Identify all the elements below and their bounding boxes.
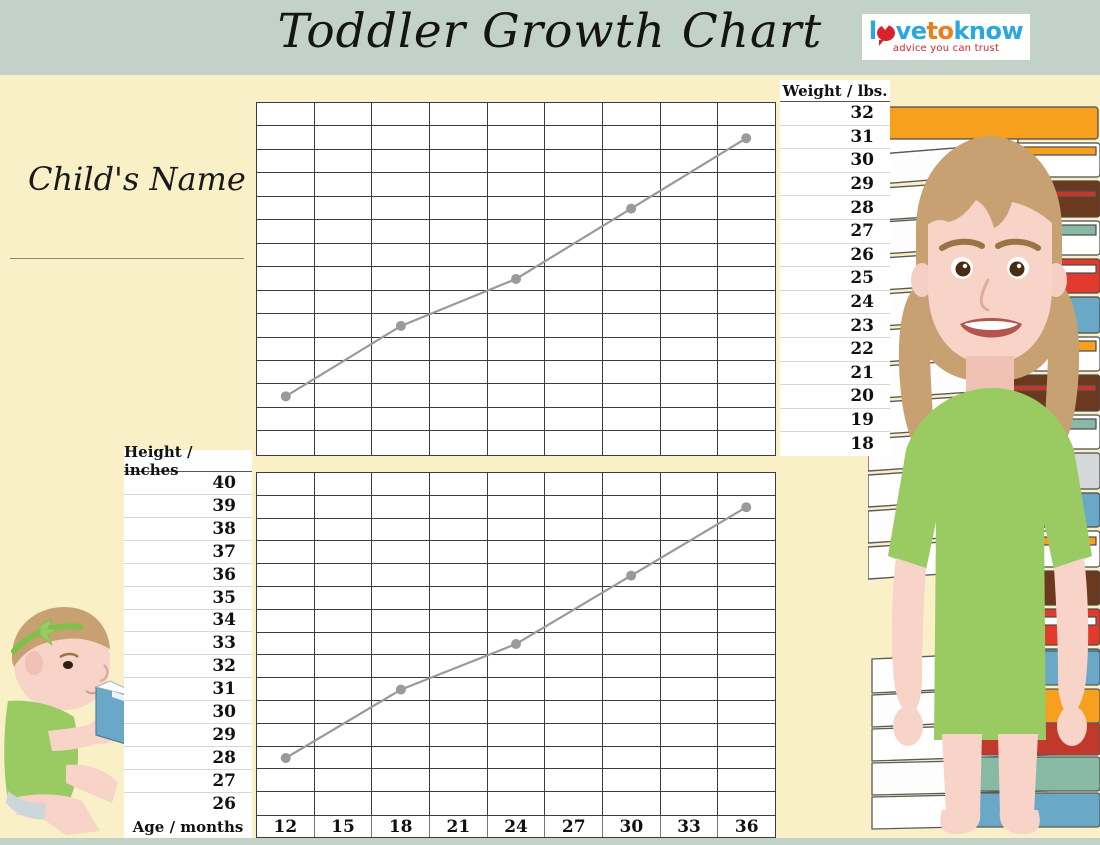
grid-cell[interactable] [545, 747, 603, 769]
grid-cell[interactable] [545, 655, 603, 677]
grid-cell[interactable] [257, 220, 315, 242]
child-name-label: Child's Name [28, 160, 246, 198]
grid-cell[interactable] [372, 220, 430, 242]
baby-reading-illustration [0, 605, 140, 838]
grid-cell[interactable] [603, 361, 661, 383]
grid-cell[interactable] [372, 678, 430, 700]
grid-cell[interactable] [488, 314, 546, 336]
grid-cell[interactable] [372, 792, 430, 815]
grid-cell[interactable] [718, 338, 775, 360]
grid-cell[interactable] [718, 724, 775, 746]
grid-cell[interactable] [603, 220, 661, 242]
grid-cell[interactable] [315, 267, 373, 289]
grid-cell[interactable] [718, 408, 775, 430]
grid-cell[interactable] [372, 150, 430, 172]
grid-cell[interactable] [488, 519, 546, 541]
grid-cell[interactable] [718, 564, 775, 586]
grid-cell[interactable] [372, 291, 430, 313]
grid-cell[interactable] [488, 678, 546, 700]
grid-cell[interactable] [257, 103, 315, 125]
grid-cell[interactable] [257, 587, 315, 609]
grid-cell[interactable] [718, 610, 775, 632]
grid-cell[interactable] [315, 496, 373, 518]
grid-cell[interactable] [430, 769, 488, 791]
grid-cell[interactable] [430, 431, 488, 454]
grid-cell[interactable] [488, 431, 546, 454]
grid-cell[interactable] [488, 338, 546, 360]
grid-cell[interactable] [603, 384, 661, 406]
height-tick-38: 38 [124, 518, 252, 541]
grid-cell[interactable] [430, 338, 488, 360]
grid-cell[interactable] [257, 724, 315, 746]
grid-row [257, 197, 775, 220]
grid-cell[interactable] [315, 361, 373, 383]
grid-cell[interactable] [718, 126, 775, 148]
child-name-write-line[interactable] [10, 258, 244, 259]
grid-cell[interactable] [718, 314, 775, 336]
grid-cell[interactable] [430, 678, 488, 700]
grid-cell[interactable] [545, 431, 603, 454]
grid-cell[interactable] [661, 655, 719, 677]
grid-cell[interactable] [718, 633, 775, 655]
grid-cell[interactable] [718, 747, 775, 769]
grid-cell[interactable] [488, 291, 546, 313]
grid-cell[interactable] [257, 792, 315, 815]
grid-cell[interactable] [661, 587, 719, 609]
age-tick-27: 27 [545, 816, 603, 837]
grid-cell[interactable] [545, 701, 603, 723]
grid-cell[interactable] [430, 724, 488, 746]
grid-cell[interactable] [372, 564, 430, 586]
grid-cell[interactable] [661, 150, 719, 172]
grid-cell[interactable] [257, 496, 315, 518]
grid-cell[interactable] [315, 173, 373, 195]
grid-cell[interactable] [315, 314, 373, 336]
grid-cell[interactable] [488, 701, 546, 723]
grid-cell[interactable] [603, 267, 661, 289]
grid-cell[interactable] [603, 338, 661, 360]
grid-cell[interactable] [430, 587, 488, 609]
grid-cell[interactable] [257, 473, 315, 495]
grid-cell[interactable] [603, 724, 661, 746]
grid-cell[interactable] [257, 519, 315, 541]
logo-text-to: to [926, 17, 953, 45]
grid-cell[interactable] [257, 244, 315, 266]
grid-cell[interactable] [257, 655, 315, 677]
grid-cell[interactable] [315, 473, 373, 495]
grid-cell[interactable] [257, 541, 315, 563]
grid-cell[interactable] [315, 338, 373, 360]
grid-cell[interactable] [315, 747, 373, 769]
grid-cell[interactable] [430, 701, 488, 723]
weight-tick-19: 19 [780, 409, 890, 433]
grid-cell[interactable] [661, 519, 719, 541]
grid-cell[interactable] [257, 291, 315, 313]
grid-cell[interactable] [257, 431, 315, 454]
grid-cell[interactable] [488, 173, 546, 195]
grid-cell[interactable] [718, 519, 775, 541]
grid-cell[interactable] [718, 267, 775, 289]
grid-cell[interactable] [545, 408, 603, 430]
grid-cell[interactable] [661, 103, 719, 125]
grid-cell[interactable] [315, 769, 373, 791]
grid-cell[interactable] [488, 267, 546, 289]
grid-cell[interactable] [488, 473, 546, 495]
grid-cell[interactable] [603, 291, 661, 313]
grid-cell[interactable] [430, 747, 488, 769]
grid-cell[interactable] [257, 701, 315, 723]
grid-cell[interactable] [661, 724, 719, 746]
grid-cell[interactable] [718, 587, 775, 609]
grid-cell[interactable] [372, 103, 430, 125]
grid-cell[interactable] [545, 244, 603, 266]
grid-cell[interactable] [315, 384, 373, 406]
grid-cell[interactable] [718, 431, 775, 454]
grid-cell[interactable] [488, 610, 546, 632]
grid-cell[interactable] [372, 173, 430, 195]
grid-cell[interactable] [545, 678, 603, 700]
grid-cell[interactable] [603, 747, 661, 769]
grid-cell[interactable] [603, 103, 661, 125]
grid-cell[interactable] [545, 724, 603, 746]
grid-cell[interactable] [718, 103, 775, 125]
grid-cell[interactable] [603, 769, 661, 791]
grid-cell[interactable] [315, 197, 373, 219]
grid-cell[interactable] [315, 633, 373, 655]
grid-cell[interactable] [372, 496, 430, 518]
grid-cell[interactable] [545, 291, 603, 313]
grid-cell[interactable] [488, 792, 546, 815]
grid-cell[interactable] [488, 126, 546, 148]
grid-cell[interactable] [545, 126, 603, 148]
height-chart-grid[interactable] [256, 472, 776, 816]
grid-cell[interactable] [488, 747, 546, 769]
grid-cell[interactable] [372, 541, 430, 563]
grid-cell[interactable] [545, 314, 603, 336]
grid-cell[interactable] [315, 220, 373, 242]
grid-cell[interactable] [661, 678, 719, 700]
grid-row [257, 519, 775, 542]
grid-cell[interactable] [315, 103, 373, 125]
height-tick-31: 31 [124, 678, 252, 701]
grid-cell[interactable] [372, 655, 430, 677]
grid-cell[interactable] [661, 747, 719, 769]
grid-cell[interactable] [661, 338, 719, 360]
grid-cell[interactable] [488, 361, 546, 383]
age-tick-21: 21 [430, 816, 488, 837]
grid-cell[interactable] [603, 408, 661, 430]
grid-cell[interactable] [661, 220, 719, 242]
grid-cell[interactable] [545, 496, 603, 518]
grid-cell[interactable] [661, 267, 719, 289]
grid-cell[interactable] [315, 126, 373, 148]
grid-cell[interactable] [603, 564, 661, 586]
grid-cell[interactable] [718, 701, 775, 723]
age-tick-24: 24 [488, 816, 546, 837]
grid-cell[interactable] [545, 220, 603, 242]
weight-axis-header: Weight / lbs. [780, 80, 890, 102]
grid-cell[interactable] [545, 197, 603, 219]
grid-cell[interactable] [315, 541, 373, 563]
grid-cell[interactable] [603, 792, 661, 815]
grid-cell[interactable] [257, 197, 315, 219]
grid-cell[interactable] [372, 408, 430, 430]
grid-cell[interactable] [372, 338, 430, 360]
grid-cell[interactable] [315, 678, 373, 700]
grid-cell[interactable] [372, 267, 430, 289]
grid-cell[interactable] [718, 792, 775, 815]
grid-cell[interactable] [315, 792, 373, 815]
grid-cell[interactable] [661, 633, 719, 655]
grid-cell[interactable] [488, 150, 546, 172]
grid-row [257, 747, 775, 770]
grid-cell[interactable] [430, 197, 488, 219]
grid-cell[interactable] [603, 150, 661, 172]
grid-cell[interactable] [315, 655, 373, 677]
grid-cell[interactable] [661, 610, 719, 632]
grid-cell[interactable] [315, 724, 373, 746]
grid-cell[interactable] [488, 103, 546, 125]
grid-cell[interactable] [430, 408, 488, 430]
grid-cell[interactable] [718, 678, 775, 700]
grid-cell[interactable] [372, 747, 430, 769]
grid-cell[interactable] [257, 126, 315, 148]
grid-cell[interactable] [545, 473, 603, 495]
grid-cell[interactable] [430, 361, 488, 383]
grid-cell[interactable] [718, 291, 775, 313]
grid-cell[interactable] [430, 564, 488, 586]
grid-cell[interactable] [661, 431, 719, 454]
grid-cell[interactable] [603, 314, 661, 336]
grid-cell[interactable] [430, 291, 488, 313]
grid-cell[interactable] [661, 314, 719, 336]
grid-cell[interactable] [603, 496, 661, 518]
grid-cell[interactable] [545, 564, 603, 586]
grid-cell[interactable] [718, 150, 775, 172]
grid-cell[interactable] [257, 408, 315, 430]
grid-cell[interactable] [257, 384, 315, 406]
grid-cell[interactable] [603, 678, 661, 700]
grid-cell[interactable] [430, 103, 488, 125]
grid-cell[interactable] [372, 519, 430, 541]
grid-cell[interactable] [315, 408, 373, 430]
grid-cell[interactable] [661, 291, 719, 313]
grid-cell[interactable] [430, 267, 488, 289]
grid-cell[interactable] [257, 678, 315, 700]
grid-cell[interactable] [488, 655, 546, 677]
grid-cell[interactable] [372, 473, 430, 495]
grid-cell[interactable] [257, 633, 315, 655]
grid-cell[interactable] [545, 519, 603, 541]
grid-cell[interactable] [718, 361, 775, 383]
grid-cell[interactable] [661, 541, 719, 563]
grid-cell[interactable] [545, 769, 603, 791]
grid-cell[interactable] [661, 564, 719, 586]
grid-cell[interactable] [603, 197, 661, 219]
grid-cell[interactable] [430, 792, 488, 815]
grid-cell[interactable] [661, 126, 719, 148]
grid-cell[interactable] [488, 384, 546, 406]
grid-cell[interactable] [603, 633, 661, 655]
grid-cell[interactable] [545, 587, 603, 609]
grid-cell[interactable] [603, 473, 661, 495]
grid-cell[interactable] [430, 633, 488, 655]
grid-cell[interactable] [488, 197, 546, 219]
weight-tick-22: 22 [780, 338, 890, 362]
grid-cell[interactable] [372, 384, 430, 406]
grid-cell[interactable] [603, 610, 661, 632]
grid-cell[interactable] [430, 220, 488, 242]
grid-cell[interactable] [430, 473, 488, 495]
grid-cell[interactable] [603, 655, 661, 677]
grid-cell[interactable] [315, 431, 373, 454]
grid-cell[interactable] [545, 384, 603, 406]
grid-cell[interactable] [430, 541, 488, 563]
grid-cell[interactable] [257, 361, 315, 383]
grid-cell[interactable] [603, 431, 661, 454]
grid-cell[interactable] [545, 150, 603, 172]
grid-cell[interactable] [603, 701, 661, 723]
grid-row [257, 724, 775, 747]
age-tick-36: 36 [718, 816, 775, 837]
grid-cell[interactable] [315, 564, 373, 586]
grid-cell[interactable] [603, 244, 661, 266]
grid-cell[interactable] [430, 384, 488, 406]
grid-cell[interactable] [603, 173, 661, 195]
grid-cell[interactable] [430, 173, 488, 195]
grid-cell[interactable] [661, 173, 719, 195]
grid-cell[interactable] [488, 541, 546, 563]
grid-cell[interactable] [718, 220, 775, 242]
grid-cell[interactable] [430, 655, 488, 677]
grid-cell[interactable] [718, 384, 775, 406]
grid-cell[interactable] [372, 244, 430, 266]
grid-cell[interactable] [488, 244, 546, 266]
grid-cell[interactable] [488, 633, 546, 655]
grid-cell[interactable] [430, 314, 488, 336]
grid-cell[interactable] [372, 431, 430, 454]
grid-cell[interactable] [315, 291, 373, 313]
grid-cell[interactable] [718, 496, 775, 518]
grid-cell[interactable] [545, 541, 603, 563]
grid-cell[interactable] [372, 361, 430, 383]
grid-row [257, 338, 775, 361]
grid-cell[interactable] [430, 519, 488, 541]
grid-cell[interactable] [603, 519, 661, 541]
grid-cell[interactable] [661, 361, 719, 383]
grid-cell[interactable] [257, 769, 315, 791]
grid-cell[interactable] [488, 496, 546, 518]
grid-cell[interactable] [430, 126, 488, 148]
height-tick-30: 30 [124, 701, 252, 724]
grid-row [257, 792, 775, 815]
grid-cell[interactable] [545, 633, 603, 655]
grid-cell[interactable] [603, 541, 661, 563]
grid-cell[interactable] [545, 610, 603, 632]
grid-cell[interactable] [718, 655, 775, 677]
grid-cell[interactable] [488, 408, 546, 430]
grid-cell[interactable] [545, 361, 603, 383]
grid-cell[interactable] [488, 724, 546, 746]
grid-cell[interactable] [315, 701, 373, 723]
grid-cell[interactable] [372, 197, 430, 219]
grid-cell[interactable] [718, 173, 775, 195]
grid-cell[interactable] [430, 610, 488, 632]
height-tick-34: 34 [124, 610, 252, 633]
grid-cell[interactable] [488, 220, 546, 242]
grid-cell[interactable] [315, 150, 373, 172]
grid-cell[interactable] [488, 769, 546, 791]
grid-cell[interactable] [661, 701, 719, 723]
grid-cell[interactable] [545, 103, 603, 125]
grid-cell[interactable] [257, 564, 315, 586]
grid-row [257, 431, 775, 454]
grid-cell[interactable] [661, 384, 719, 406]
grid-cell[interactable] [372, 587, 430, 609]
grid-cell[interactable] [257, 747, 315, 769]
grid-cell[interactable] [372, 314, 430, 336]
grid-cell[interactable] [661, 792, 719, 815]
grid-cell[interactable] [718, 541, 775, 563]
grid-cell[interactable] [661, 408, 719, 430]
grid-cell[interactable] [545, 173, 603, 195]
grid-row [257, 267, 775, 290]
grid-cell[interactable] [661, 244, 719, 266]
grid-cell[interactable] [718, 244, 775, 266]
grid-row [257, 496, 775, 519]
grid-cell[interactable] [315, 244, 373, 266]
grid-cell[interactable] [545, 267, 603, 289]
grid-row [257, 103, 775, 126]
grid-cell[interactable] [661, 496, 719, 518]
grid-cell[interactable] [315, 610, 373, 632]
grid-cell[interactable] [315, 519, 373, 541]
grid-cell[interactable] [603, 126, 661, 148]
grid-cell[interactable] [545, 338, 603, 360]
grid-cell[interactable] [315, 587, 373, 609]
grid-cell[interactable] [488, 587, 546, 609]
grid-cell[interactable] [718, 197, 775, 219]
grid-cell[interactable] [718, 473, 775, 495]
grid-cell[interactable] [372, 126, 430, 148]
grid-cell[interactable] [372, 724, 430, 746]
grid-cell[interactable] [603, 587, 661, 609]
grid-cell[interactable] [545, 792, 603, 815]
logo-tagline: advice you can trust [893, 43, 999, 55]
grid-cell[interactable] [257, 267, 315, 289]
grid-cell[interactable] [372, 769, 430, 791]
grid-cell[interactable] [430, 150, 488, 172]
grid-cell[interactable] [661, 197, 719, 219]
grid-cell[interactable] [430, 244, 488, 266]
grid-cell[interactable] [372, 633, 430, 655]
weight-chart-grid[interactable] [256, 102, 776, 456]
grid-cell[interactable] [257, 150, 315, 172]
grid-cell[interactable] [661, 769, 719, 791]
grid-cell[interactable] [718, 769, 775, 791]
grid-cell[interactable] [257, 314, 315, 336]
grid-cell[interactable] [257, 338, 315, 360]
logo-speech-bubble-icon: ♥ [877, 19, 896, 43]
lovetoknow-logo[interactable]: l♥vetoknow advice you can trust [862, 14, 1030, 60]
grid-cell[interactable] [372, 610, 430, 632]
grid-cell[interactable] [257, 173, 315, 195]
grid-cell[interactable] [661, 473, 719, 495]
grid-cell[interactable] [430, 496, 488, 518]
grid-cell[interactable] [372, 701, 430, 723]
grid-cell[interactable] [257, 610, 315, 632]
grid-cell[interactable] [488, 564, 546, 586]
